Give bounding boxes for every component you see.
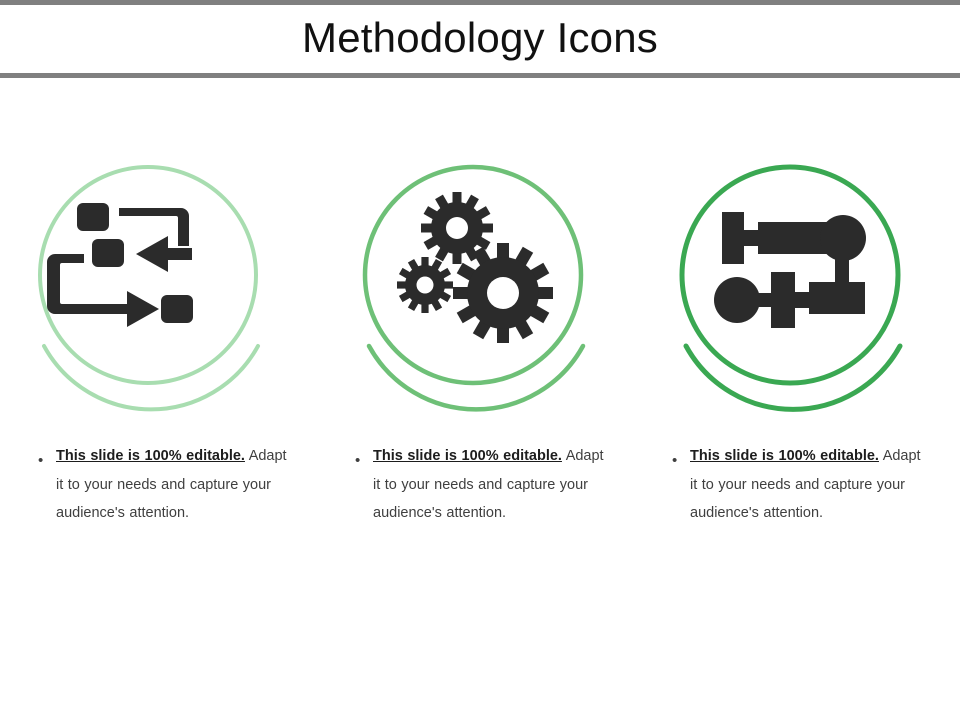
title-divider-rule	[0, 73, 960, 78]
bullet-lead-text: This slide is 100% editable.	[56, 448, 245, 464]
icon-badge-3[interactable]	[675, 150, 925, 420]
badge-ring-1	[40, 167, 256, 383]
page-title: Methodology Icons	[0, 13, 960, 63]
network-nodes-icon	[714, 212, 866, 328]
bullet-lead-text: This slide is 100% editable.	[373, 448, 562, 464]
slide-canvas: Methodology Icons	[0, 0, 960, 720]
icon-column-1: • This slide is 100% editable. Adapt it …	[0, 150, 320, 528]
icon-column-2: • This slide is 100% editable. Adapt it …	[320, 150, 640, 528]
gears-icon	[397, 192, 553, 343]
bullet-lead-text: This slide is 100% editable.	[690, 448, 879, 464]
icon-badge-1[interactable]	[35, 150, 285, 420]
icon-column-3: • This slide is 100% editable. Adapt it …	[640, 150, 960, 528]
bullet-item-1: • This slide is 100% editable. Adapt it …	[38, 442, 288, 528]
bullet-text: This slide is 100% editable. Adapt it to…	[56, 442, 288, 528]
bullet-marker: •	[38, 442, 56, 468]
bullet-item-2: • This slide is 100% editable. Adapt it …	[355, 442, 605, 528]
bullet-text: This slide is 100% editable. Adapt it to…	[690, 442, 922, 528]
bullet-marker: •	[672, 442, 690, 468]
process-flow-icon	[47, 203, 193, 327]
bullet-text: This slide is 100% editable. Adapt it to…	[373, 442, 605, 528]
bullet-marker: •	[355, 442, 373, 468]
title-area: Methodology Icons	[0, 5, 960, 73]
icon-columns: • This slide is 100% editable. Adapt it …	[0, 150, 960, 620]
bullet-item-3: • This slide is 100% editable. Adapt it …	[672, 442, 922, 528]
icon-badge-2[interactable]	[355, 150, 605, 420]
